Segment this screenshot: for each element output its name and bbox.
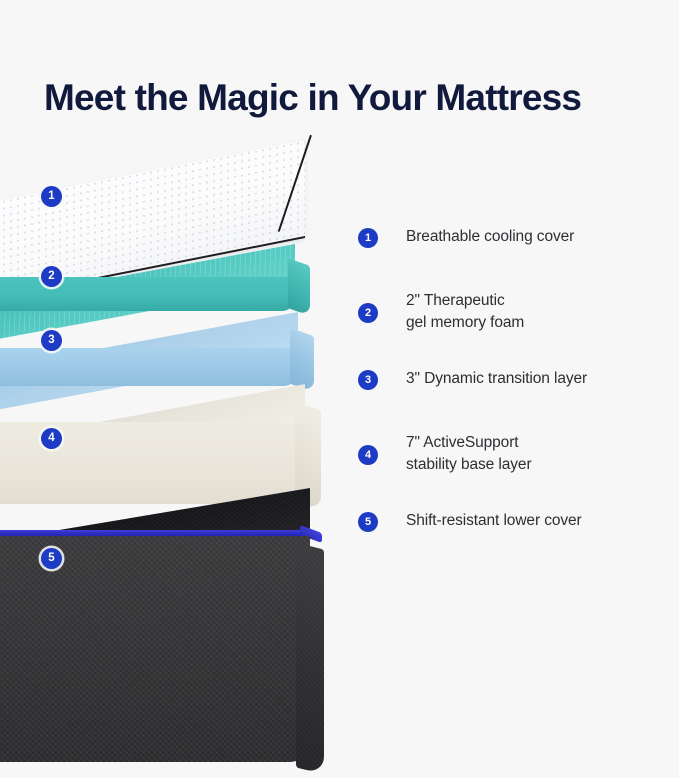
- stack-badge-1[interactable]: 1: [41, 186, 62, 207]
- legend-badge-1: 1: [358, 228, 378, 248]
- legend-item-4[interactable]: 4 7" ActiveSupport stability base layer: [358, 432, 668, 477]
- legend-item-1[interactable]: 1 Breathable cooling cover: [358, 226, 668, 248]
- legend-label-5: Shift-resistant lower cover: [406, 510, 582, 532]
- transition-right-cap: [290, 328, 314, 392]
- stack-badge-3[interactable]: 3: [41, 330, 62, 351]
- lower-cover-front-face: [0, 536, 310, 762]
- legend-badge-4: 4: [358, 445, 378, 465]
- mattress-layer-shift-resistant-lower-cover: [0, 488, 320, 778]
- legend-item-3[interactable]: 3 3" Dynamic transition layer: [358, 368, 668, 390]
- legend-label-4: 7" ActiveSupport stability base layer: [406, 432, 532, 477]
- legend-item-5[interactable]: 5 Shift-resistant lower cover: [358, 510, 668, 532]
- legend-badge-3: 3: [358, 370, 378, 390]
- legend-label-3: 3" Dynamic transition layer: [406, 368, 587, 390]
- stack-badge-2[interactable]: 2: [41, 266, 62, 287]
- legend-badge-5: 5: [358, 512, 378, 532]
- lower-cover-right-cap: [296, 543, 324, 775]
- legend-badge-2: 2: [358, 303, 378, 323]
- transition-front-face: [0, 348, 298, 386]
- stack-badge-5[interactable]: 5: [41, 548, 62, 569]
- infographic-canvas: Meet the Magic in Your Mattress: [0, 0, 679, 679]
- page-title: Meet the Magic in Your Mattress: [44, 77, 654, 118]
- gel-foam-right-cap: [288, 258, 310, 316]
- legend-item-2[interactable]: 2 2" Therapeutic gel memory foam: [358, 290, 668, 335]
- stack-badge-4[interactable]: 4: [41, 428, 62, 449]
- legend-label-1: Breathable cooling cover: [406, 226, 574, 248]
- legend-label-2: 2" Therapeutic gel memory foam: [406, 290, 524, 335]
